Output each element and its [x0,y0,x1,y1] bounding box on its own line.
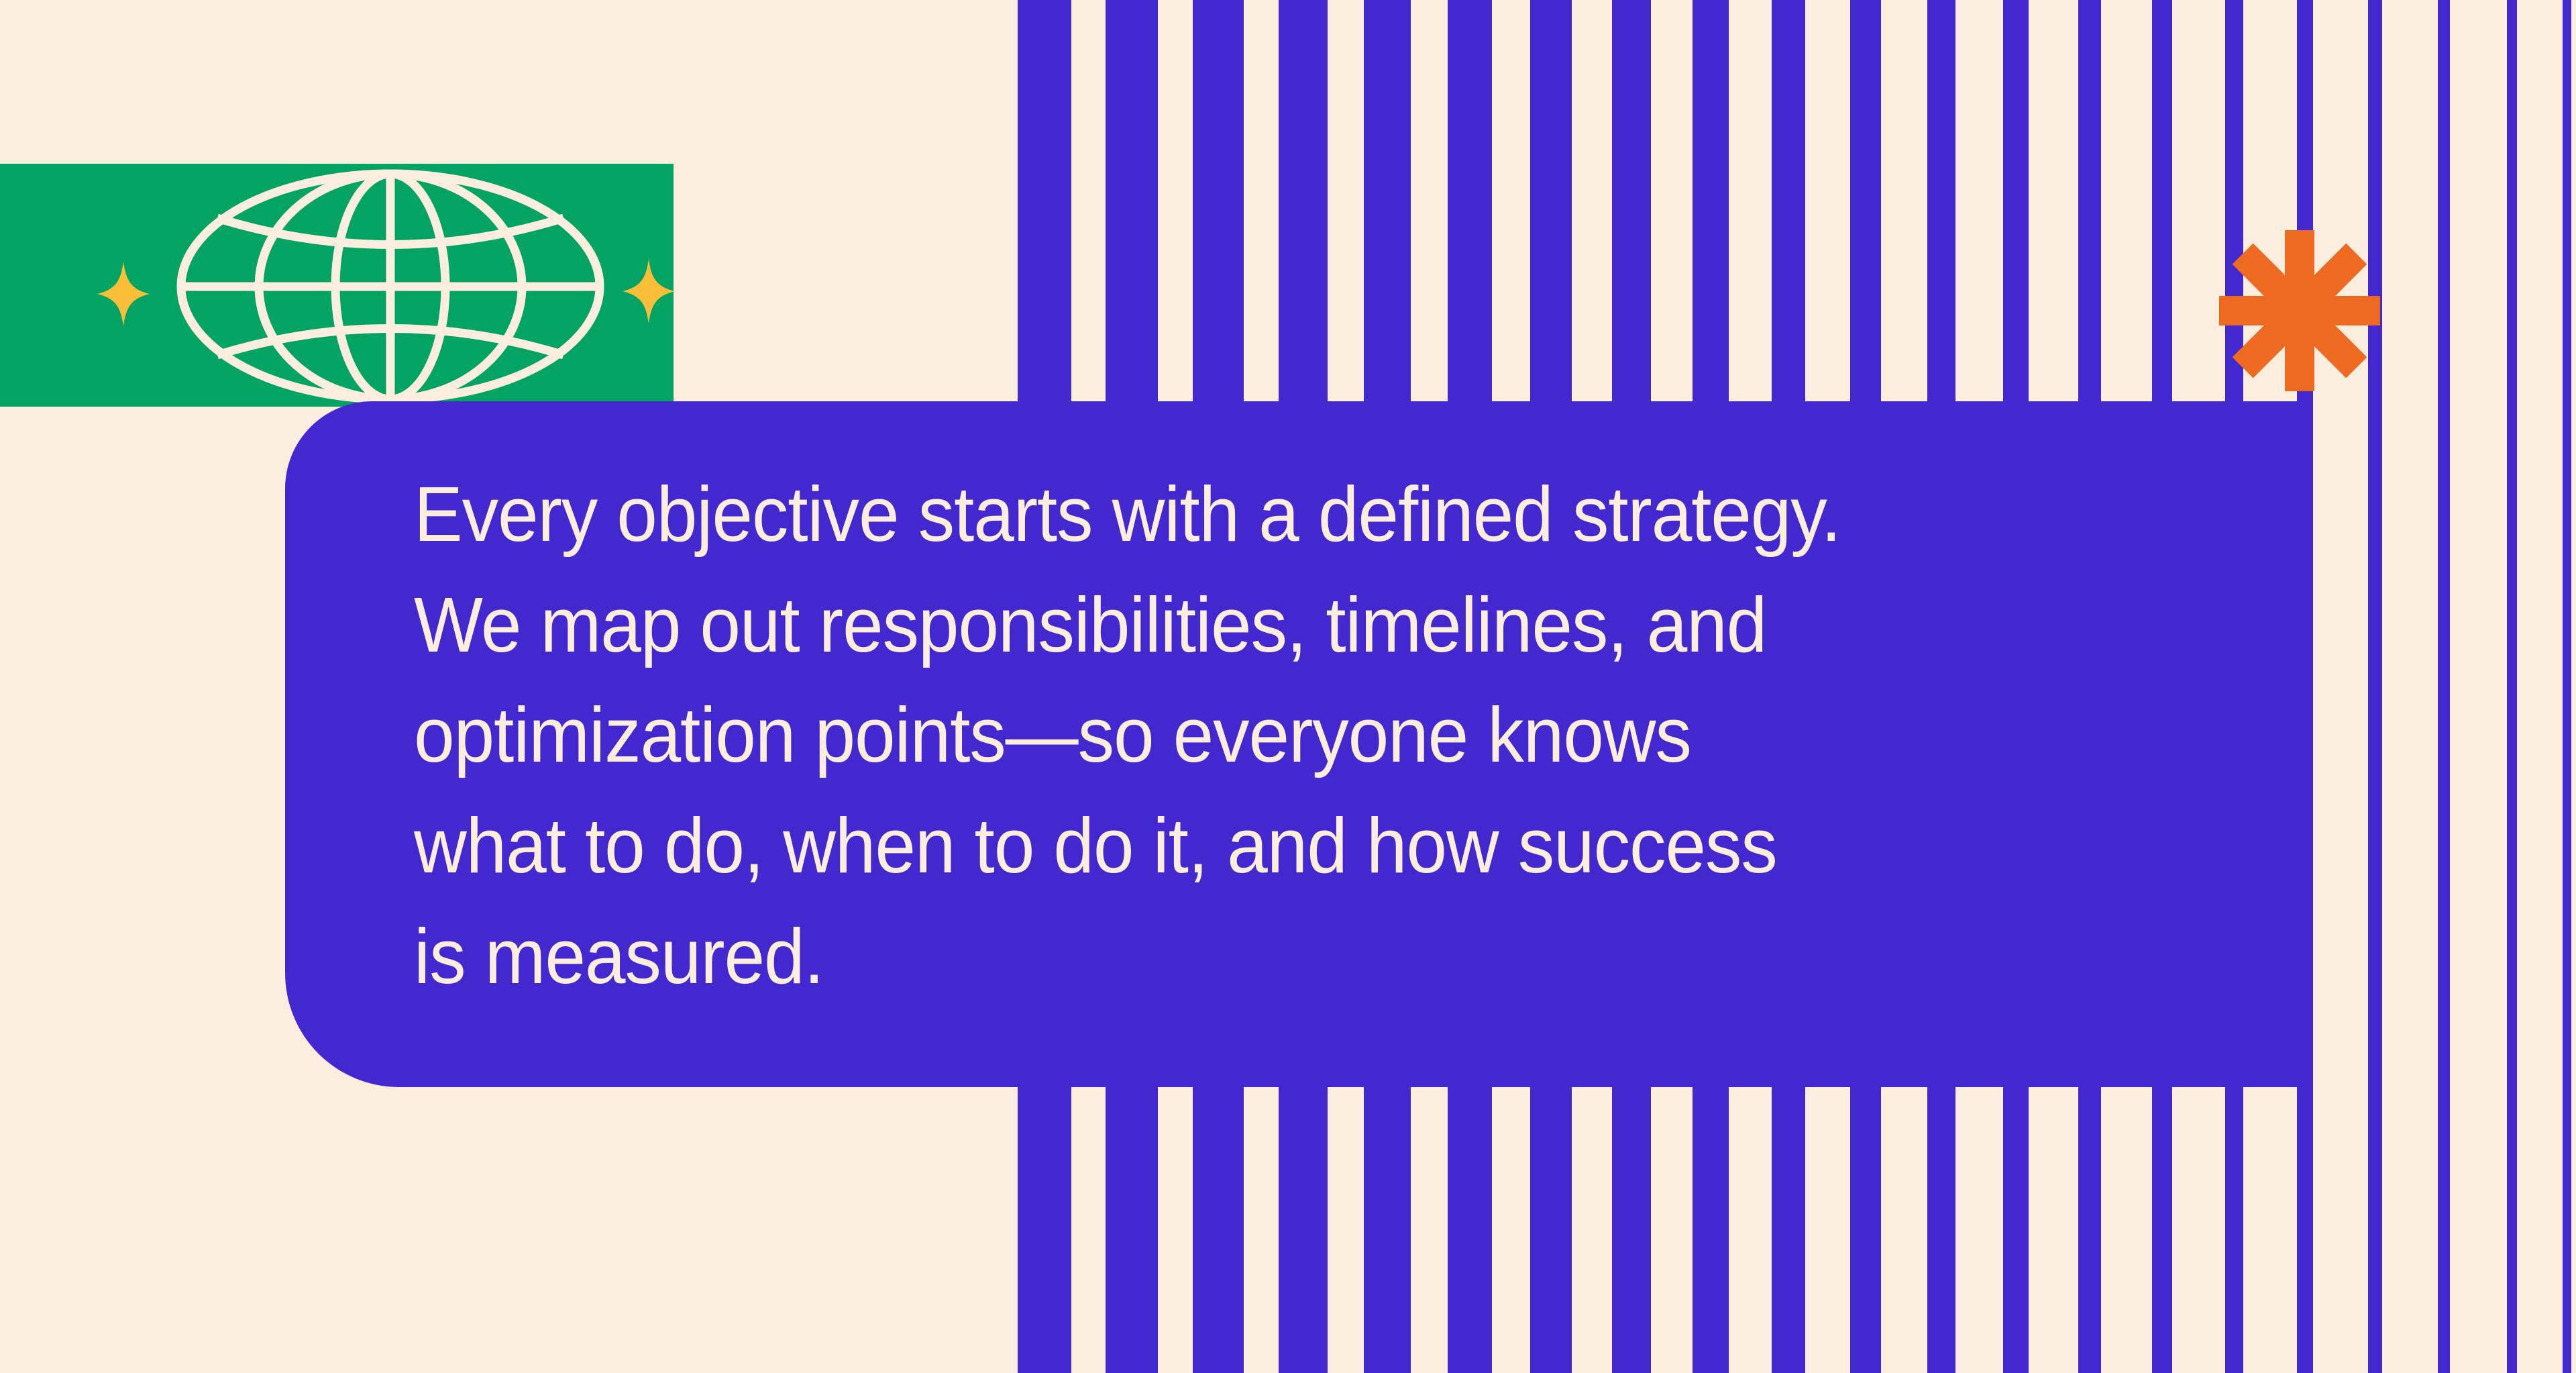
stripe-bar [2438,0,2450,1373]
sparkle-icon [97,262,150,326]
stripe-bar [2563,0,2571,1373]
stripe-bar [2368,0,2382,1373]
sparkle-icon [623,259,675,323]
globe-icon [176,169,605,404]
poster-canvas: Every objective starts with a defined st… [0,0,2576,1373]
asterisk-icon [2216,227,2383,395]
stripe-bar [2507,0,2517,1373]
quote-card: Every objective starts with a defined st… [285,401,2310,1087]
quote-text: Every objective starts with a defined st… [414,459,1841,1012]
